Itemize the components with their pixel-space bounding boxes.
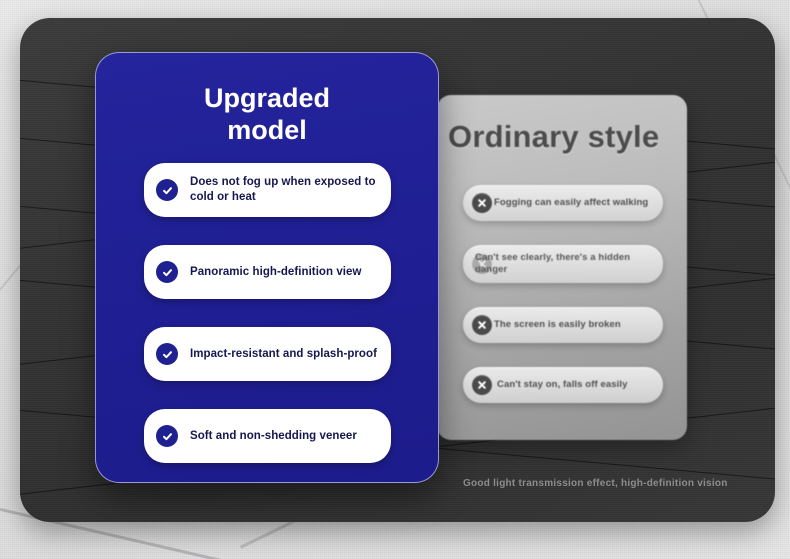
upgraded-item-label: Panoramic high-definition view <box>190 265 361 280</box>
upgraded-item-label: Soft and non-shedding veneer <box>190 429 357 444</box>
check-circle-icon <box>156 261 178 283</box>
ordinary-item-label: The screen is easily broken <box>463 319 629 331</box>
check-circle-icon <box>156 179 178 201</box>
promo-comparison-scene: Ordinary style Fogging can easily affect… <box>0 0 790 559</box>
upgraded-feature-list: Does not fog up when exposed to cold or … <box>144 163 391 491</box>
check-circle-icon <box>156 343 178 365</box>
ordinary-list-item: Can't see clearly, there's a hidden dang… <box>463 245 663 283</box>
upgraded-item-label: Impact-resistant and splash-proof <box>190 347 377 362</box>
ordinary-item-label: Can't see clearly, there's a hidden dang… <box>463 252 663 276</box>
scene-caption: Good light transmission effect, high-def… <box>463 478 743 489</box>
upgraded-list-item: Does not fog up when exposed to cold or … <box>144 163 391 217</box>
upgraded-title-line-2: model <box>156 115 378 147</box>
ordinary-panel-title: Ordinary style <box>448 119 687 155</box>
ordinary-list-item: Can't stay on, falls off easily <box>463 367 663 403</box>
check-circle-icon <box>156 425 178 447</box>
upgraded-model-card: Upgraded model Does not fog up when expo… <box>95 52 439 483</box>
upgraded-title-line-1: Upgraded <box>156 83 378 115</box>
ordinary-list-item: The screen is easily broken <box>463 307 663 343</box>
upgraded-list-item: Soft and non-shedding veneer <box>144 409 391 463</box>
upgraded-list-item: Impact-resistant and splash-proof <box>144 327 391 381</box>
ordinary-list-item: Fogging can easily affect walking <box>463 185 663 221</box>
ordinary-style-panel: Ordinary style Fogging can easily affect… <box>437 95 687 440</box>
ordinary-item-label: Fogging can easily affect walking <box>463 197 656 209</box>
upgraded-list-item: Panoramic high-definition view <box>144 245 391 299</box>
upgraded-card-title: Upgraded model <box>96 83 438 147</box>
upgraded-item-label: Does not fog up when exposed to cold or … <box>190 175 377 205</box>
ordinary-feature-list: Fogging can easily affect walking Can't … <box>463 185 663 427</box>
ordinary-item-label: Can't stay on, falls off easily <box>463 379 635 391</box>
